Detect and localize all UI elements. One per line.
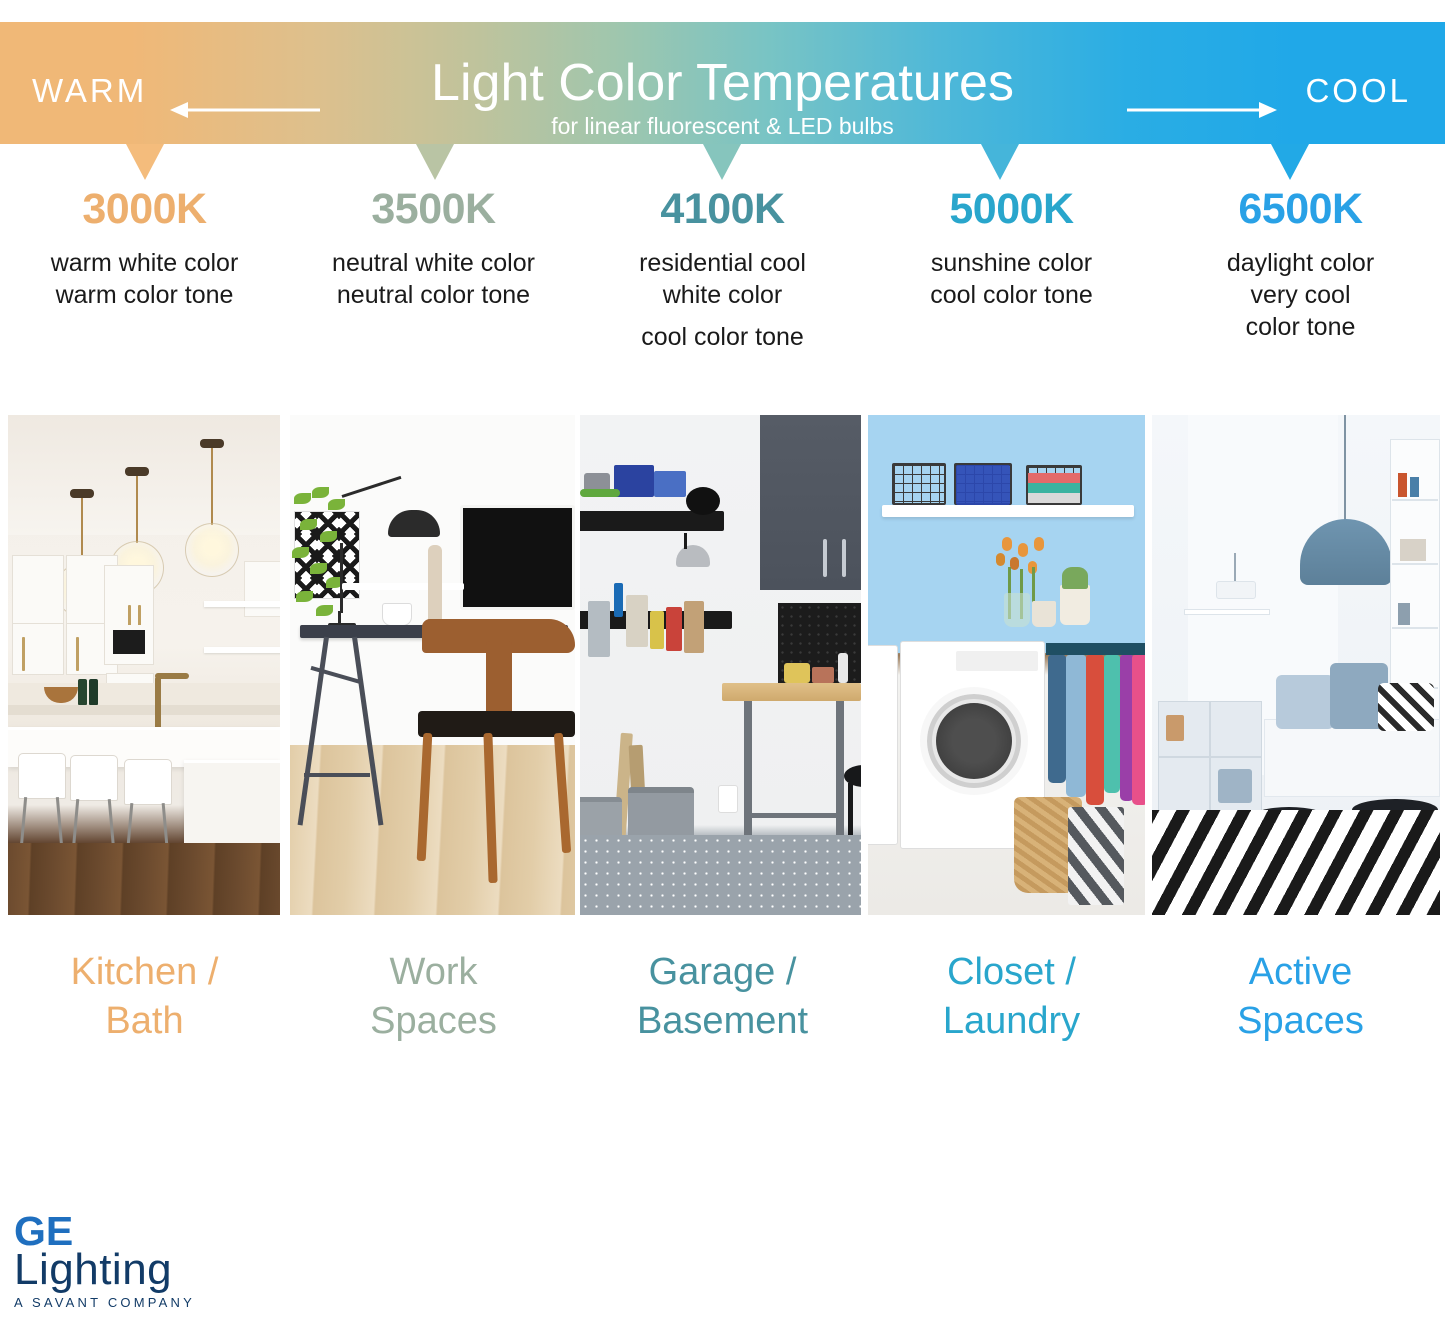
photo-strip: [0, 415, 1445, 915]
room-label-line-1: Closet /: [873, 948, 1150, 997]
photo-garage: [580, 415, 861, 915]
room-column-kitchen: Kitchen / Bath: [0, 948, 289, 1045]
kelvin-desc-3: very cool: [1164, 279, 1437, 311]
kelvin-desc-3: cool color tone: [586, 321, 859, 353]
photo-laundry: [868, 415, 1145, 915]
title-block: Light Color Temperatures for linear fluo…: [0, 56, 1445, 140]
pointer-3000k: [126, 144, 164, 180]
room-column-laundry: Closet / Laundry: [867, 948, 1156, 1045]
kelvin-value: 3000K: [8, 186, 281, 233]
photo-work-space: [290, 415, 575, 915]
temp-column-4100k: 4100K residential cool white color cool …: [578, 186, 867, 353]
kelvin-desc-1: residential cool: [586, 247, 859, 279]
temp-column-3500k: 3500K neutral white color neutral color …: [289, 186, 578, 353]
room-label-line-1: Garage /: [584, 948, 861, 997]
room-label-line-1: Active: [1162, 948, 1439, 997]
room-label-row: Kitchen / Bath Work Spaces Garage / Base…: [0, 948, 1445, 1045]
room-column-work: Work Spaces: [289, 948, 578, 1045]
kelvin-desc-3: neutral color tone: [297, 279, 570, 311]
header-gradient-bar: WARM Light Color Temperatures for linear…: [0, 22, 1445, 144]
photo-kitchen: [8, 415, 280, 915]
kelvin-desc-1: warm white color: [8, 247, 281, 279]
room-label-line-1: Kitchen /: [6, 948, 283, 997]
kelvin-value: 3500K: [297, 186, 570, 233]
kelvin-value: 5000K: [875, 186, 1148, 233]
kelvin-value: 6500K: [1164, 186, 1437, 233]
room-column-active: Active Spaces: [1156, 948, 1445, 1045]
room-label-line-2: Laundry: [873, 997, 1150, 1046]
room-label-line-2: Bath: [6, 997, 283, 1046]
logo-savant-tagline: A SAVANT COMPANY: [14, 1295, 195, 1310]
room-label-line-2: Basement: [584, 997, 861, 1046]
logo-lighting-text: Lighting: [14, 1248, 195, 1293]
room-column-garage: Garage / Basement: [578, 948, 867, 1045]
room-label-line-1: Work: [295, 948, 572, 997]
pointer-6500k: [1271, 144, 1309, 180]
kelvin-desc-1: neutral white color: [297, 247, 570, 279]
pointer-4100k: [703, 144, 741, 180]
arrow-right-icon: [1127, 100, 1277, 125]
ge-lighting-logo: GE Lighting A SAVANT COMPANY: [14, 1212, 195, 1310]
kelvin-desc-2: white color: [586, 279, 859, 311]
room-label-line-2: Spaces: [1162, 997, 1439, 1046]
temp-column-6500k: 6500K daylight color very cool color ton…: [1156, 186, 1445, 353]
kelvin-desc-1: daylight color: [1164, 247, 1437, 279]
pointer-5000k: [981, 144, 1019, 180]
pointer-3500k: [416, 144, 454, 180]
cool-label: COOL: [1305, 72, 1411, 110]
kelvin-desc-4: color tone: [1164, 311, 1437, 343]
temperature-row: 3000K warm white color warm color tone 3…: [0, 186, 1445, 353]
kelvin-desc-1: sunshine color: [875, 247, 1148, 279]
photo-active-space: [1152, 415, 1440, 915]
kelvin-value: 4100K: [586, 186, 859, 233]
kelvin-desc-3: cool color tone: [875, 279, 1148, 311]
kelvin-desc-3: warm color tone: [8, 279, 281, 311]
room-label-line-2: Spaces: [295, 997, 572, 1046]
temp-column-5000k: 5000K sunshine color cool color tone: [867, 186, 1156, 353]
temp-column-3000k: 3000K warm white color warm color tone: [0, 186, 289, 353]
